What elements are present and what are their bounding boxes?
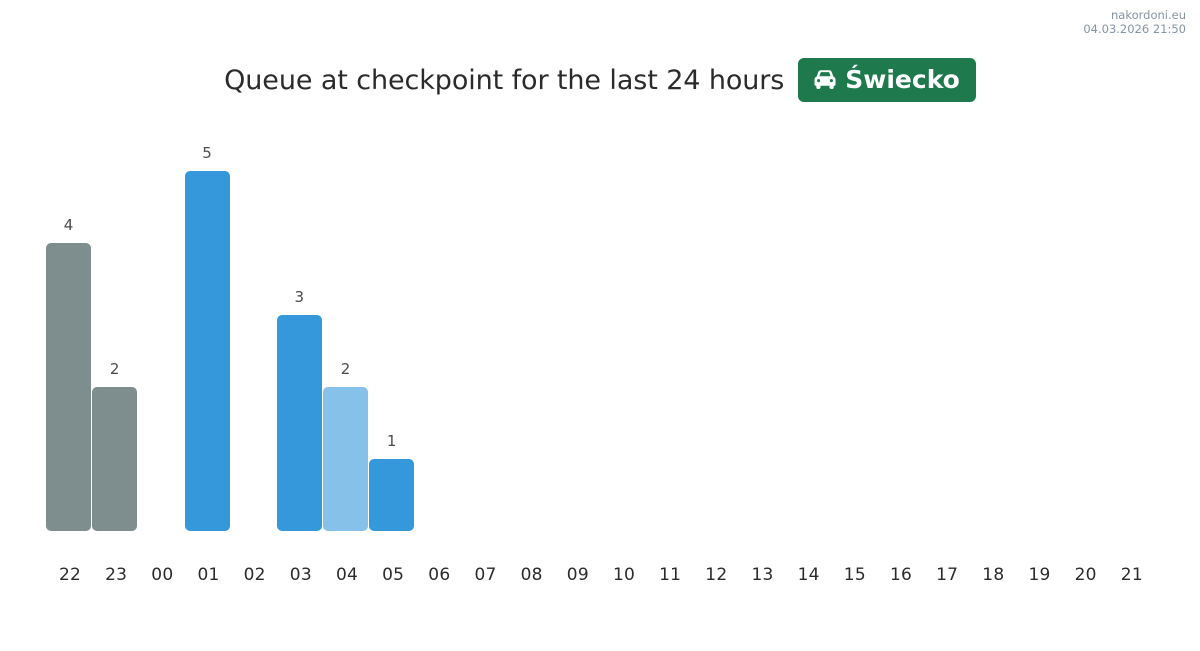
bar-column-15[interactable] <box>831 128 879 531</box>
x-tick-11: 11 <box>646 565 694 585</box>
bar-column-14[interactable] <box>785 128 833 531</box>
bar-column-12[interactable] <box>692 128 740 531</box>
bar-column-06[interactable] <box>415 128 463 531</box>
x-tick-07: 07 <box>462 565 510 585</box>
x-tick-19: 19 <box>1016 565 1064 585</box>
bar-value-label: 3 <box>277 288 322 306</box>
x-tick-12: 12 <box>692 565 740 585</box>
x-tick-02: 02 <box>231 565 279 585</box>
bar-chart: 425321 222300010203040506070809101112131… <box>0 128 1200 608</box>
x-tick-03: 03 <box>277 565 325 585</box>
bar-column-04[interactable]: 2 <box>323 128 371 531</box>
x-tick-09: 09 <box>554 565 602 585</box>
x-tick-01: 01 <box>185 565 233 585</box>
timestamp: 04.03.2026 21:50 <box>1083 22 1186 36</box>
page-title: Queue at checkpoint for the last 24 hour… <box>224 65 784 96</box>
x-tick-05: 05 <box>369 565 417 585</box>
bar-column-02[interactable] <box>231 128 279 531</box>
bar-value-label: 2 <box>92 360 137 378</box>
x-tick-04: 04 <box>323 565 371 585</box>
bar-column-16[interactable] <box>877 128 925 531</box>
plot-area: 425321 <box>46 128 1154 531</box>
bar-column-19[interactable] <box>1016 128 1064 531</box>
x-tick-08: 08 <box>508 565 556 585</box>
bar[interactable] <box>46 243 91 531</box>
watermark-block: nakordoni.eu 04.03.2026 21:50 <box>1083 8 1186 37</box>
bar-column-03[interactable]: 3 <box>277 128 325 531</box>
bar-column-18[interactable] <box>969 128 1017 531</box>
x-tick-00: 00 <box>138 565 186 585</box>
car-icon <box>812 69 838 91</box>
x-tick-14: 14 <box>785 565 833 585</box>
x-tick-20: 20 <box>1062 565 1110 585</box>
x-tick-10: 10 <box>600 565 648 585</box>
bar-value-label: 2 <box>323 360 368 378</box>
bar-value-label: 1 <box>369 432 414 450</box>
bar-value-label: 5 <box>185 144 230 162</box>
x-tick-21: 21 <box>1108 565 1156 585</box>
badge-label: Świecko <box>845 67 960 92</box>
bar-column-22[interactable]: 4 <box>46 128 94 531</box>
bar-column-00[interactable] <box>138 128 186 531</box>
bar-column-01[interactable]: 5 <box>185 128 233 531</box>
x-tick-16: 16 <box>877 565 925 585</box>
bar-value-label: 4 <box>46 216 91 234</box>
bar-column-07[interactable] <box>462 128 510 531</box>
bar-column-17[interactable] <box>923 128 971 531</box>
bar[interactable] <box>185 171 230 531</box>
bar-column-13[interactable] <box>739 128 787 531</box>
checkpoint-badge[interactable]: Świecko <box>798 58 976 102</box>
bar[interactable] <box>369 459 414 531</box>
site-name: nakordoni.eu <box>1083 8 1186 22</box>
bar-column-20[interactable] <box>1062 128 1110 531</box>
x-tick-22: 22 <box>46 565 94 585</box>
x-tick-15: 15 <box>831 565 879 585</box>
x-tick-17: 17 <box>923 565 971 585</box>
bar[interactable] <box>277 315 322 531</box>
x-axis: 2223000102030405060708091011121314151617… <box>46 565 1154 595</box>
bar-column-10[interactable] <box>600 128 648 531</box>
bar[interactable] <box>92 387 137 531</box>
bar-column-08[interactable] <box>508 128 556 531</box>
x-tick-23: 23 <box>92 565 140 585</box>
bar[interactable] <box>323 387 368 531</box>
x-tick-18: 18 <box>969 565 1017 585</box>
bar-column-05[interactable]: 1 <box>369 128 417 531</box>
chart-header: Queue at checkpoint for the last 24 hour… <box>0 58 1200 102</box>
x-tick-06: 06 <box>415 565 463 585</box>
bar-column-09[interactable] <box>554 128 602 531</box>
bar-column-21[interactable] <box>1108 128 1156 531</box>
bar-column-23[interactable]: 2 <box>92 128 140 531</box>
bar-column-11[interactable] <box>646 128 694 531</box>
x-tick-13: 13 <box>739 565 787 585</box>
